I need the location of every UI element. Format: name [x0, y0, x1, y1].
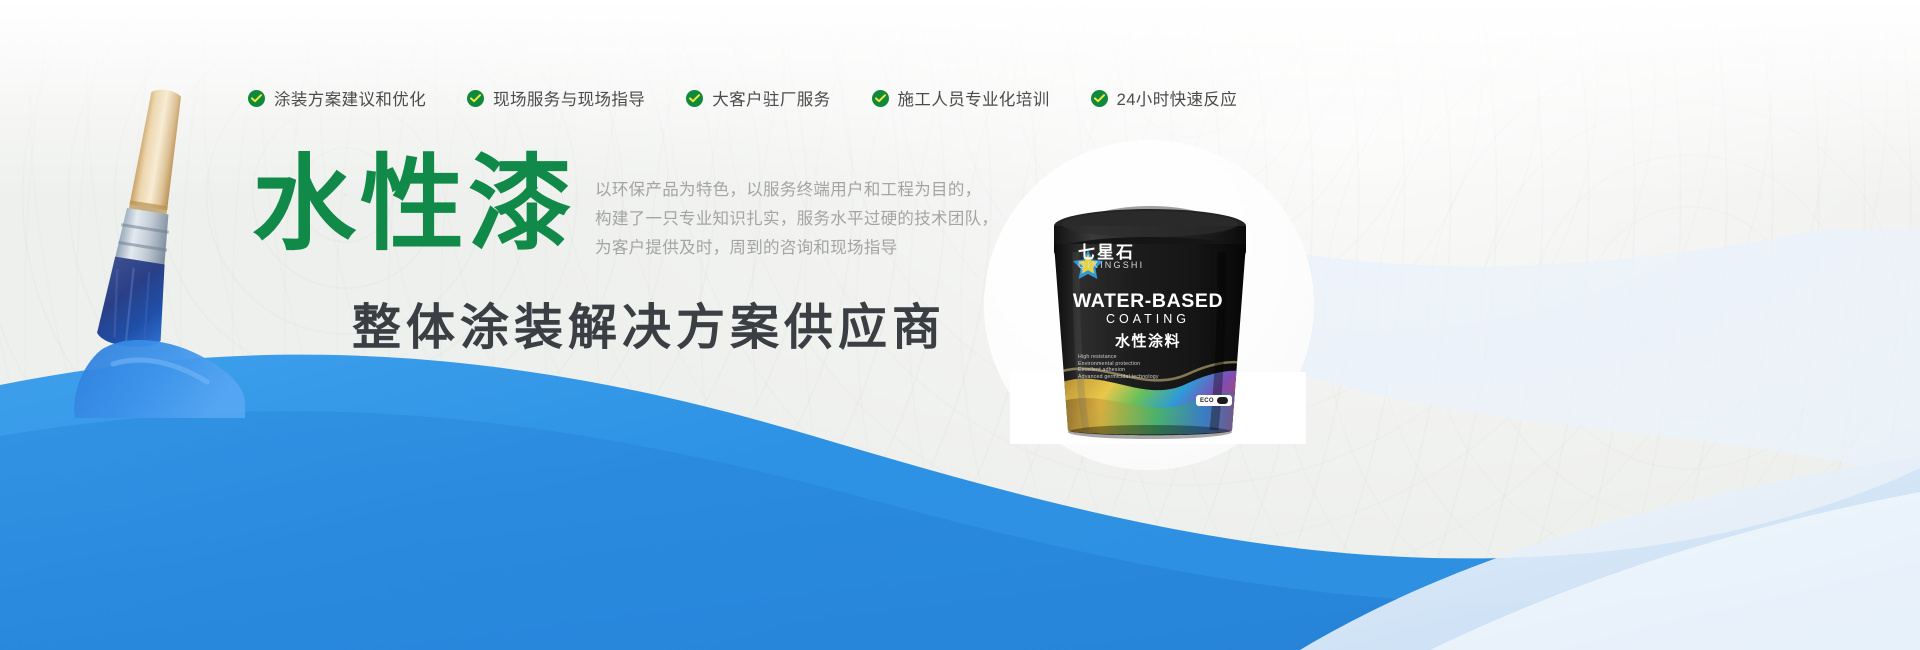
eco-badge-label: ECO [1200, 398, 1214, 404]
feature-item: 大客户驻厂服务 [686, 86, 830, 110]
check-circle-icon [872, 90, 889, 107]
description-line: 以环保产品为特色，以服务终端用户和工程为目的， [595, 176, 998, 205]
headline-block: 水性漆 以环保产品为特色，以服务终端用户和工程为目的， 构建了一只专业知识扎实，… [252, 152, 998, 263]
feature-label: 大客户驻厂服务 [712, 86, 830, 110]
check-circle-icon [686, 90, 703, 107]
feature-label: 现场服务与现场指导 [493, 86, 645, 110]
feature-item: 24小时快速反应 [1091, 86, 1238, 110]
eco-badge: ECO [1196, 395, 1232, 406]
description-line: 为客户提供及时，周到的咨询和现场指导 [595, 234, 998, 263]
feature-item: 涂装方案建议和优化 [248, 86, 426, 110]
eco-badge-dot-icon [1217, 397, 1228, 404]
feature-item: 施工人员专业化培训 [872, 86, 1050, 110]
feature-label: 涂装方案建议和优化 [274, 86, 426, 110]
check-circle-icon [248, 90, 265, 107]
product-title-cn: 水性涂料 [1060, 330, 1236, 351]
check-circle-icon [1091, 90, 1108, 107]
paintbrush-icon [55, 88, 245, 423]
promo-banner: 涂装方案建议和优化 现场服务与现场指导 大客户驻厂服务 [0, 0, 1920, 650]
feature-label: 24小时快速反应 [1117, 86, 1238, 110]
description-block: 以环保产品为特色，以服务终端用户和工程为目的， 构建了一只专业知识扎实，服务水平… [595, 176, 998, 263]
product-title-en: WATER-BASED [1060, 290, 1236, 313]
feature-list: 涂装方案建议和优化 现场服务与现场指导 大客户驻厂服务 [248, 86, 1237, 110]
feature-item: 现场服务与现场指导 [467, 86, 645, 110]
product-brand-pinyin: QIXINGSHI [1078, 260, 1144, 270]
product-subtitle-en: COATING [1060, 312, 1236, 326]
product-fine-print: High resistance Environmental protection… [1078, 354, 1159, 380]
feature-label: 施工人员专业化培训 [898, 86, 1050, 110]
page-title: 水性漆 [252, 152, 576, 256]
description-line: 构建了一只专业知识扎实，服务水平过硬的技术团队， [595, 205, 998, 234]
subheadline: 整体涂装解决方案供应商 [352, 288, 946, 359]
check-circle-icon [467, 90, 484, 107]
wave-decoration [0, 230, 1920, 650]
